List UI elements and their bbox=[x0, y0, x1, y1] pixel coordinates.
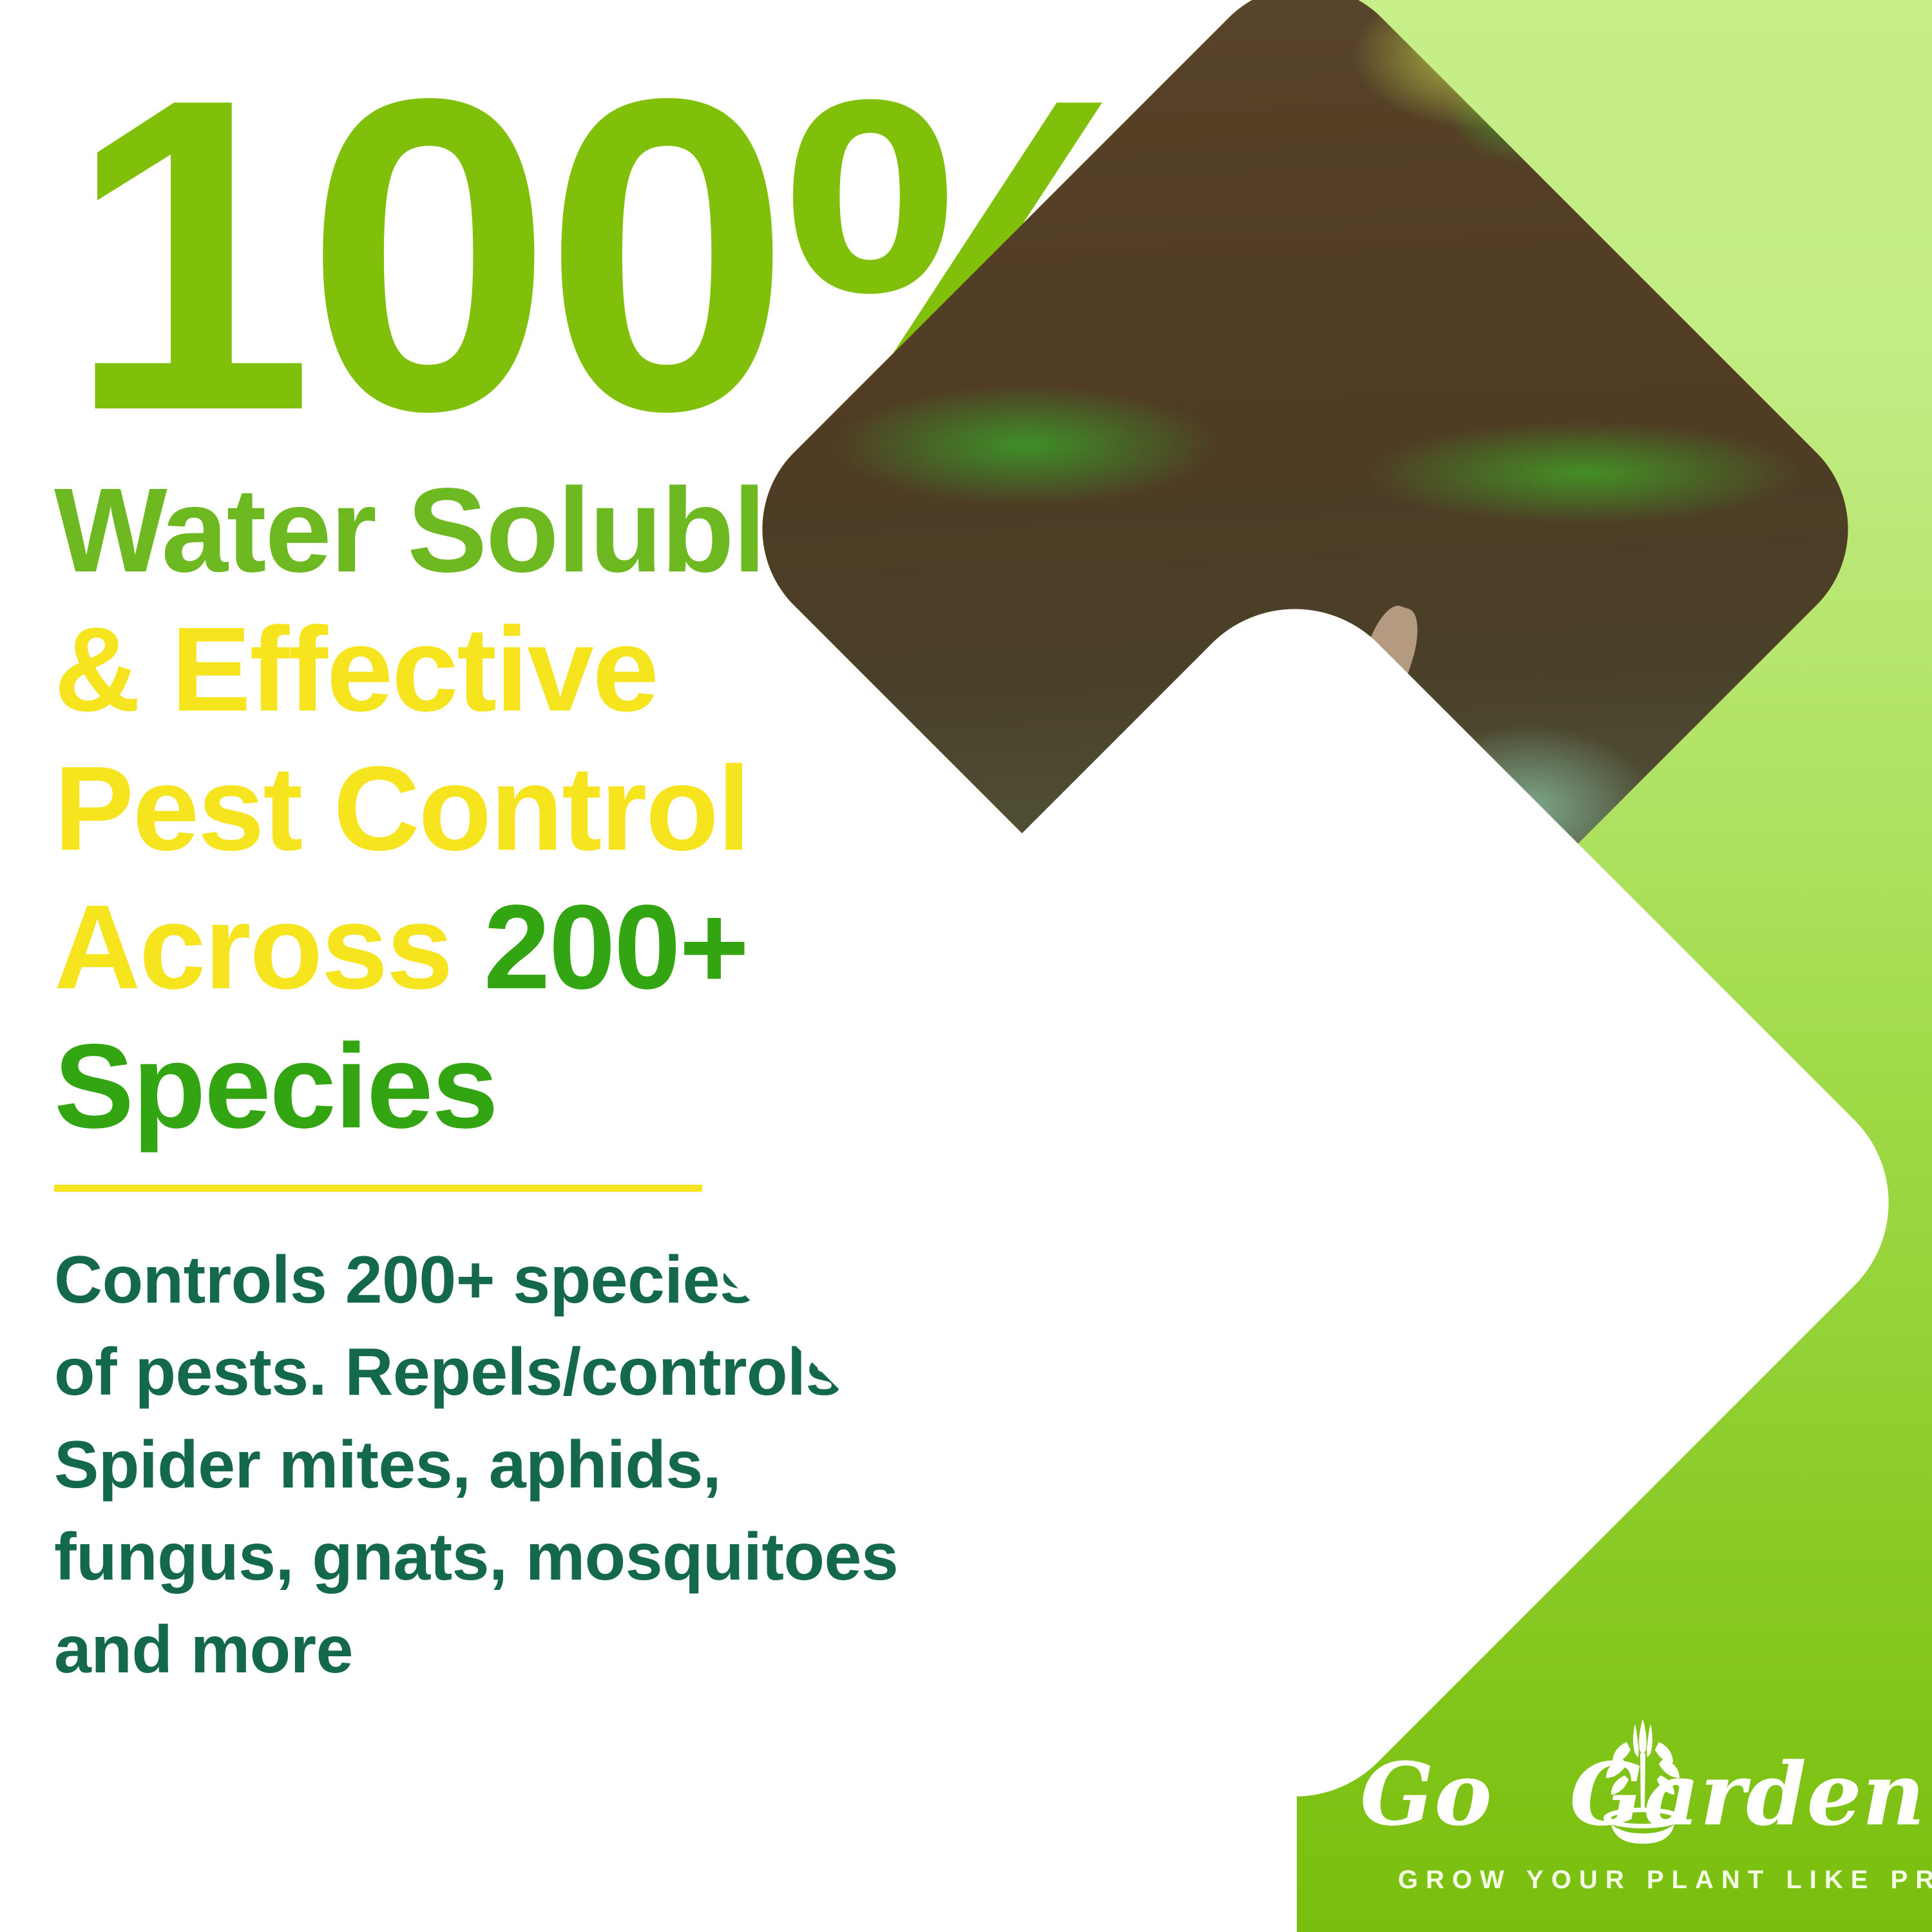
brand-logo-tagline: GROW YOUR PLANT LIKE PRO bbox=[1398, 1866, 1888, 1895]
headline-across-word: Across bbox=[54, 881, 484, 1014]
body-line-3: Spider mites, aphids, bbox=[54, 1419, 1020, 1512]
headline-species-count: 200+ bbox=[484, 881, 748, 1014]
brand-logo[interactable]: Go bbox=[1398, 1733, 1888, 1895]
headline-line-3: Pest Control bbox=[54, 740, 1059, 879]
promo-poster: 100% Water Soluble & Effective Pest Cont… bbox=[0, 0, 1932, 1932]
brand-logo-wordmark: Go bbox=[1398, 1733, 1888, 1855]
body-line-5: and more bbox=[54, 1604, 1020, 1697]
brand-logo-word-go: Go bbox=[1360, 1751, 1492, 1837]
body-line-4: fungus, gnats, mosquitoes bbox=[54, 1511, 1020, 1604]
potted-plant-icon bbox=[1594, 1714, 1691, 1849]
